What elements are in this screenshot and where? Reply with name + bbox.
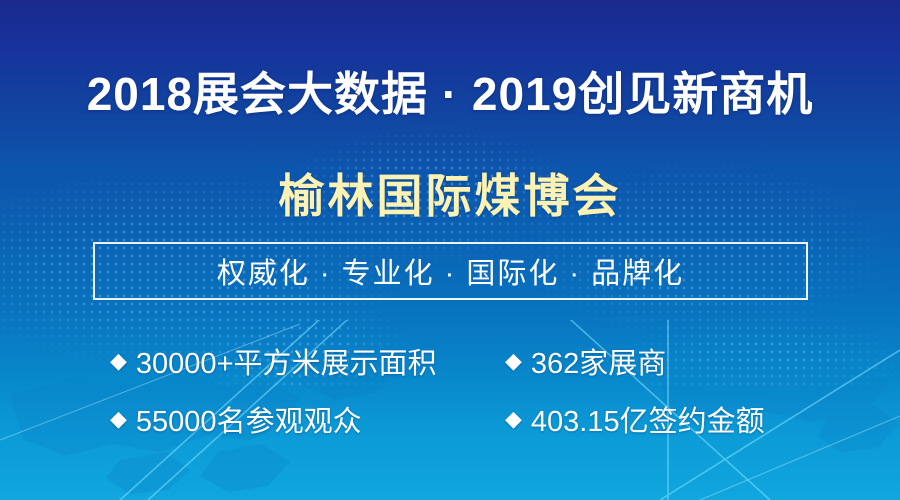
tagline-text: 权威化 · 专业化 · 国际化 · 品牌化 — [217, 250, 684, 292]
banner-content: 2018展会大数据 · 2019创见新商机 榆林国际煤博会 权威化 · 专业化 … — [0, 0, 900, 500]
diamond-bullet-icon: ◆ — [110, 350, 127, 372]
stats-grid: ◆ 30000+平方米展示面积 ◆ 362家展商 ◆ 55000名参观观众 ◆ … — [0, 332, 900, 448]
stat-label: 55000名参观观众 — [136, 398, 362, 440]
stats-row: ◆ 55000名参观观众 ◆ 403.15亿签约金额 — [0, 390, 900, 448]
stat-item: ◆ 30000+平方米展示面积 — [110, 340, 505, 382]
stat-item: ◆ 362家展商 — [505, 340, 666, 382]
diamond-bullet-icon: ◆ — [505, 408, 522, 430]
stats-row: ◆ 30000+平方米展示面积 ◆ 362家展商 — [0, 332, 900, 390]
main-headline: 2018展会大数据 · 2019创见新商机 — [0, 58, 900, 124]
diamond-bullet-icon: ◆ — [505, 350, 522, 372]
stat-item: ◆ 55000名参观观众 — [110, 398, 505, 440]
stat-label: 30000+平方米展示面积 — [136, 340, 437, 382]
promo-banner: 2018展会大数据 · 2019创见新商机 榆林国际煤博会 权威化 · 专业化 … — [0, 0, 900, 500]
event-name-subtitle: 榆林国际煤博会 — [0, 160, 900, 226]
stat-label: 403.15亿签约金额 — [531, 398, 765, 440]
diamond-bullet-icon: ◆ — [110, 408, 127, 430]
tagline-box: 权威化 · 专业化 · 国际化 · 品牌化 — [93, 242, 808, 300]
stat-label: 362家展商 — [531, 340, 666, 382]
stat-item: ◆ 403.15亿签约金额 — [505, 398, 765, 440]
